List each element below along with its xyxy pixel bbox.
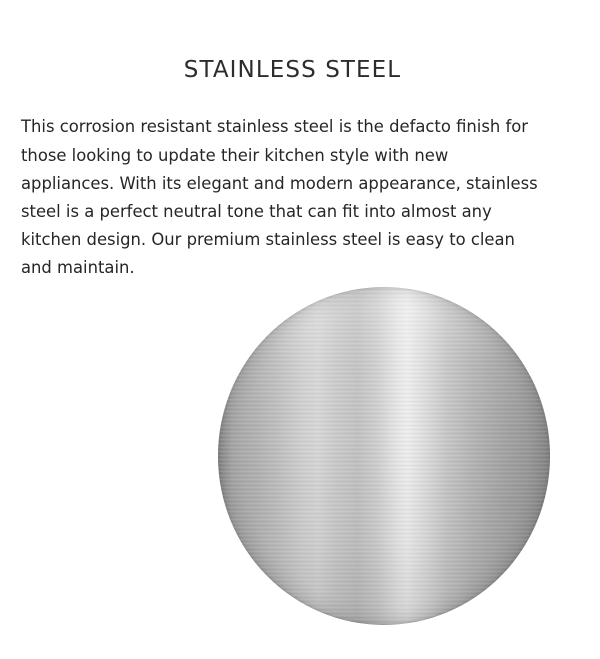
brushed-metal-disc — [218, 287, 550, 625]
stainless-steel-swatch — [218, 287, 550, 625]
finish-description: This corrosion resistant stainless steel… — [21, 113, 543, 282]
product-finish-panel: STAINLESS STEEL This corrosion resistant… — [0, 0, 600, 659]
page-title: STAINLESS STEEL — [0, 57, 585, 83]
